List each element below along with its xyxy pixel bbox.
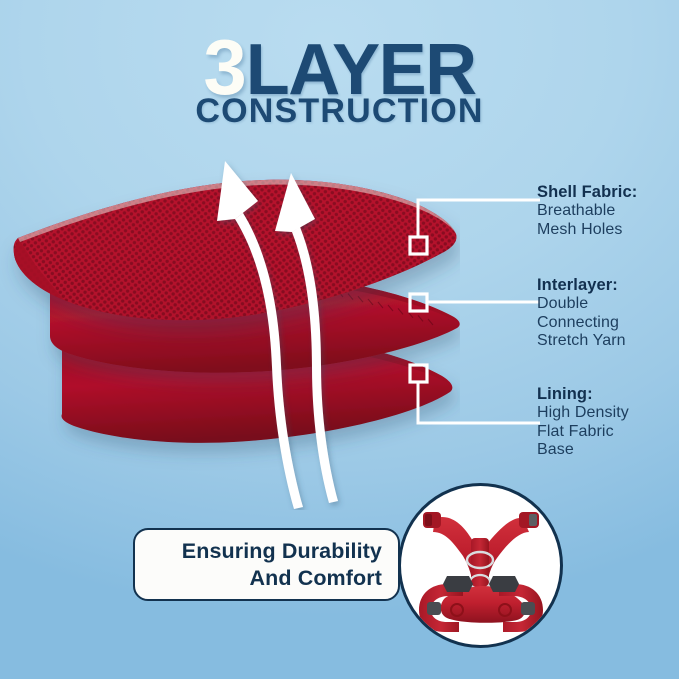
callout-body: Double Connecting Stretch Yarn	[537, 295, 679, 351]
callout-body: High Density Flat Fabric Base	[537, 404, 679, 460]
callout-heading: Shell Fabric:	[537, 183, 679, 202]
callout-interlayer: Interlayer: Double Connecting Stretch Ya…	[537, 276, 679, 351]
page-title: 3LAYER CONSTRUCTION	[0, 28, 679, 133]
airflow-arrows	[195, 135, 385, 510]
title-subtitle: CONSTRUCTION	[0, 94, 679, 128]
square-marker-interlayer	[410, 294, 427, 311]
title-main-row: 3LAYER	[0, 28, 679, 90]
callout-heading: Interlayer:	[537, 276, 679, 295]
square-marker-shell	[410, 237, 427, 254]
callout-lining: Lining: High Density Flat Fabric Base	[537, 385, 679, 460]
product-photo-circle	[398, 483, 563, 648]
dog-harness-illustration	[401, 486, 560, 645]
callout-heading: Lining:	[537, 385, 679, 404]
callout-connectors	[390, 180, 560, 450]
connector-lining	[418, 382, 540, 423]
callout-shell-fabric: Shell Fabric: Breathable Mesh Holes	[537, 183, 679, 239]
callout-body: Breathable Mesh Holes	[537, 202, 679, 239]
tagline-text: Ensuring Durability And Comfort	[182, 538, 382, 590]
infographic-canvas: 3LAYER CONSTRUCTION	[0, 0, 679, 679]
tagline-box: Ensuring Durability And Comfort	[133, 528, 400, 601]
connector-shell	[418, 200, 540, 236]
square-marker-lining	[410, 365, 427, 382]
